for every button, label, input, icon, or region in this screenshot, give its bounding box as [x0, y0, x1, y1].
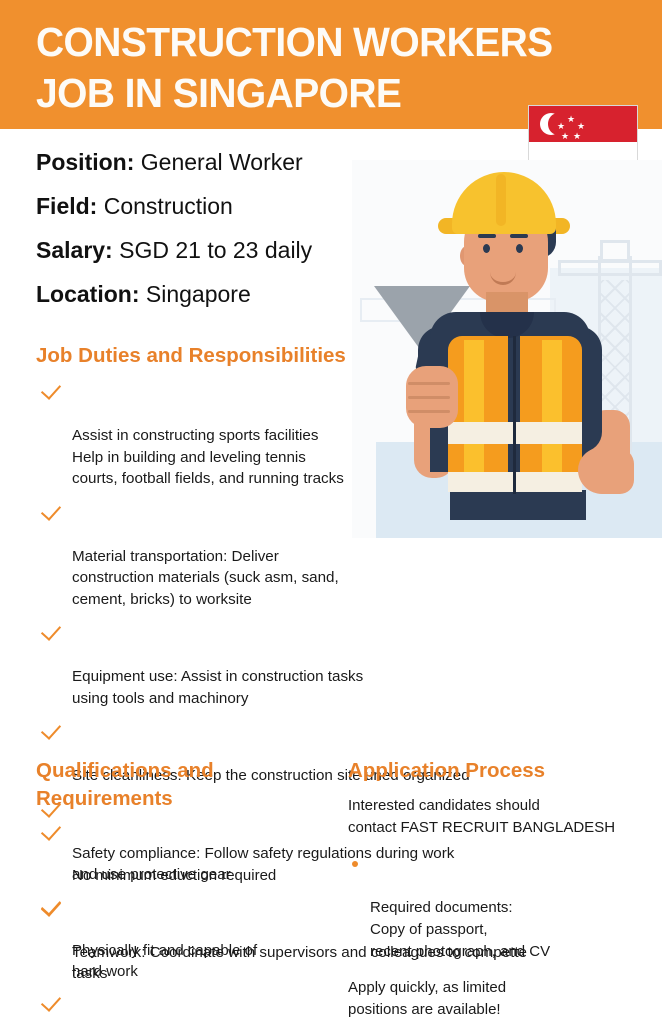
flag-star: ★	[561, 132, 569, 141]
list-item-text: Assist in constructing sports facilities…	[72, 427, 344, 487]
application-intro: Interested candidates should contact FAS…	[348, 795, 648, 839]
list-item: Material transportation: Deliver constru…	[36, 503, 632, 611]
list-item: No minimum eduction required	[36, 823, 336, 886]
check-icon	[41, 500, 61, 521]
list-item: Assist in constructing sports facilities…	[36, 382, 632, 490]
fact-row-field: Field: Construction	[36, 184, 396, 228]
required-documents-text: Required documents: Copy of passport, re…	[370, 899, 550, 960]
fact-label: Field:	[36, 193, 97, 219]
qualifications-heading: Qualifications and Requirements	[36, 757, 336, 813]
check-icon	[41, 991, 61, 1012]
application-section: Application Process Interested candidate…	[348, 757, 648, 1024]
flag-star: ★	[567, 115, 575, 124]
fact-value: SGD 21 to 23 daily	[119, 237, 312, 263]
check-icon	[41, 620, 61, 641]
worker-eye	[483, 244, 490, 253]
qualifications-list: No minimum eduction required Physically …	[36, 823, 336, 1024]
list-item-text: Material transportation: Deliver constru…	[72, 548, 339, 608]
check-icon	[41, 379, 61, 400]
check-icon	[41, 895, 61, 916]
fact-value: Construction	[104, 193, 233, 219]
fact-label: Position:	[36, 149, 134, 175]
qualifications-section: Qualifications and Requirements No minim…	[36, 757, 336, 1024]
fact-row-location: Location: Singapore	[36, 272, 396, 316]
list-item-text: Physically fit and capable of hard work	[72, 942, 257, 980]
page-title: CONSTRUCTION WORKERS JOB IN SINGAPORE	[36, 17, 568, 119]
fact-label: Location:	[36, 281, 140, 307]
flag-star: ★	[557, 122, 565, 131]
job-facts-list: Position: General Worker Field: Construc…	[36, 140, 396, 316]
worker-eye	[516, 244, 523, 253]
job-poster: CONSTRUCTION WORKERS JOB IN SINGAPORE ★ …	[0, 0, 662, 1024]
application-closing: Apply quickly, as limited positions are …	[348, 977, 648, 1021]
application-heading: Application Process	[348, 757, 648, 785]
list-item-text: No minimum eduction required	[72, 867, 276, 884]
flag-star: ★	[577, 122, 585, 131]
list-item: Physically fit and capable of hard work	[36, 898, 336, 982]
fact-label: Salary:	[36, 237, 113, 263]
fact-row-position: Position: General Worker	[36, 140, 396, 184]
fact-row-salary: Salary: SGD 21 to 23 daily	[36, 228, 396, 272]
fact-value: Singapore	[146, 281, 251, 307]
list-item: Construction work experience preferred, …	[36, 994, 336, 1024]
required-documents-item: Required documents: Copy of passport, re…	[348, 853, 648, 963]
list-item: Equipment use: Assist in construction ta…	[36, 623, 632, 709]
check-icon	[41, 820, 61, 841]
list-item-text: Equipment use: Assist in construction ta…	[72, 668, 363, 707]
worker-eyebrow	[478, 234, 496, 238]
flag-star: ★	[573, 132, 581, 141]
check-icon	[41, 719, 61, 740]
dot-bullet-icon	[352, 861, 358, 867]
hard-hat-ridge	[496, 174, 506, 226]
worker-eyebrow	[510, 234, 528, 238]
duties-heading: Job Duties and Responsibilities	[36, 342, 346, 369]
fact-value: General Worker	[141, 149, 303, 175]
